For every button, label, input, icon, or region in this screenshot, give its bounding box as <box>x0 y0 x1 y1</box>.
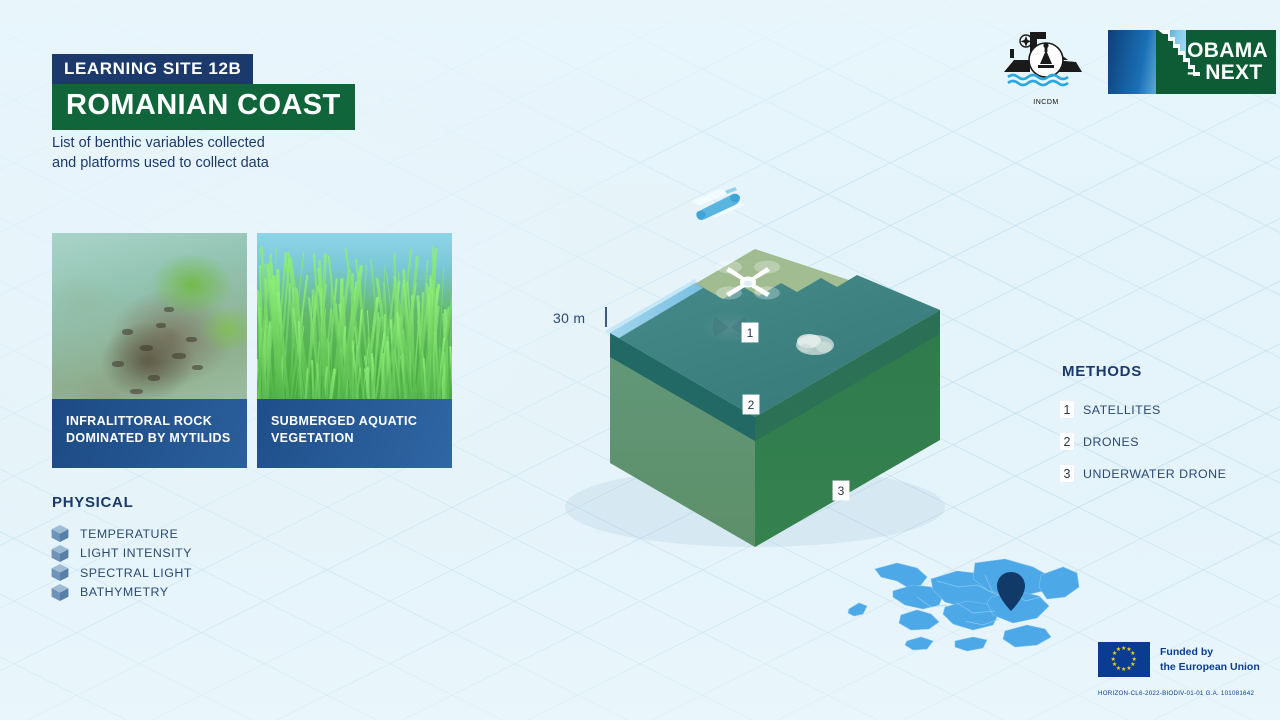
method-label: SATELLITES <box>1083 403 1161 417</box>
incdm-logo-caption: INCDM <box>1000 99 1092 106</box>
physical-variable-label: BATHYMETRY <box>80 585 169 599</box>
incdm-logo: INCDM <box>1000 28 1092 106</box>
physical-variable-label: TEMPERATURE <box>80 527 178 541</box>
method-label: UNDERWATER DRONE <box>1083 467 1226 481</box>
methods-list: 1SATELLITES2DRONES3UNDERWATER DRONE <box>1060 401 1226 497</box>
europe-locator-map <box>845 545 1080 660</box>
methods-list-item[interactable]: 2DRONES <box>1060 433 1226 450</box>
funding-line-2: the European Union <box>1160 660 1260 674</box>
caption-line-2: DOMINATED BY MYTILIDS <box>66 430 235 447</box>
obama-line-1: OBAMA <box>1187 40 1268 62</box>
cube-icon <box>50 544 70 563</box>
europe-map-svg <box>845 545 1080 660</box>
eu-star-icon: ★ <box>1111 657 1116 663</box>
depth-tick-mark <box>605 307 607 327</box>
methods-heading: METHODS <box>1062 363 1142 380</box>
method-number-badge: 1 <box>1060 401 1074 418</box>
subtitle-line-2: and platforms used to collect data <box>52 153 269 173</box>
method-number-badge: 2 <box>1060 433 1074 450</box>
eu-star-icon: ★ <box>1126 666 1131 672</box>
learning-site-tag: LEARNING SITE 12B <box>52 54 253 85</box>
physical-heading: PHYSICAL <box>52 494 133 511</box>
habitat-card-submerged-vegetation[interactable]: SUBMERGED AQUATIC VEGETATION <box>257 233 452 468</box>
eu-flag-icon: ★★★★★★★★★★★★ <box>1098 642 1150 677</box>
airplane-icon <box>691 187 745 220</box>
physical-variable-item: BATHYMETRY <box>50 583 192 603</box>
page-title: ROMANIAN COAST <box>52 84 355 130</box>
page-subtitle: List of benthic variables collected and … <box>52 133 269 173</box>
eu-star-icon: ★ <box>1121 667 1126 673</box>
caption-line-1: SUBMERGED AQUATIC <box>271 413 440 430</box>
physical-variable-item: TEMPERATURE <box>50 524 192 544</box>
physical-variable-list: TEMPERATURELIGHT INTENSITYSPECTRAL LIGHT… <box>50 524 192 602</box>
methods-list-item[interactable]: 1SATELLITES <box>1060 401 1226 418</box>
cube-icon <box>50 524 70 543</box>
scene-marker-1[interactable]: 1 <box>742 323 758 342</box>
method-label: DRONES <box>1083 435 1139 449</box>
habitat-card-infralittoral-rock[interactable]: INFRALITTORAL ROCK DOMINATED BY MYTILIDS <box>52 233 247 468</box>
methods-list-item[interactable]: 3UNDERWATER DRONE <box>1060 465 1226 482</box>
caption-line-1: INFRALITTORAL ROCK <box>66 413 235 430</box>
eu-star-icon: ★ <box>1112 662 1117 668</box>
physical-variable-label: LIGHT INTENSITY <box>80 546 192 560</box>
habitat-card-caption: INFRALITTORAL ROCK DOMINATED BY MYTILIDS <box>52 399 247 468</box>
eu-star-icon: ★ <box>1116 647 1121 653</box>
scene-marker-2[interactable]: 2 <box>743 395 759 414</box>
obama-next-logo: OBAMA – NEXT <box>1108 30 1276 94</box>
physical-variable-item: SPECTRAL LIGHT <box>50 563 192 583</box>
method-number-badge: 3 <box>1060 465 1074 482</box>
eu-funding-text: Funded by the European Union <box>1160 645 1260 673</box>
physical-variable-item: LIGHT INTENSITY <box>50 544 192 564</box>
scene-marker-3[interactable]: 3 <box>833 481 849 500</box>
physical-variable-label: SPECTRAL LIGHT <box>80 566 192 580</box>
habitat-card-caption: SUBMERGED AQUATIC VEGETATION <box>257 399 452 468</box>
funding-line-1: Funded by <box>1160 645 1260 659</box>
obama-next-wordmark: OBAMA – NEXT <box>1187 40 1268 84</box>
incdm-ship-icon <box>1000 28 1092 98</box>
caption-line-2: VEGETATION <box>271 430 440 447</box>
eu-funding-block: ★★★★★★★★★★★★ Funded by the European Unio… <box>1098 642 1260 677</box>
coastal-block-svg <box>545 155 995 555</box>
isometric-coastal-block-diagram: 30 m 1 2 3 <box>545 155 995 555</box>
depth-label: 30 m <box>553 310 585 326</box>
obama-line-2: – NEXT <box>1187 62 1268 84</box>
grant-agreement-number: HORIZON-CL6-2022-BIODIV-01-01 G.A. 10108… <box>1098 690 1254 697</box>
cube-icon <box>50 583 70 602</box>
cube-icon <box>50 563 70 582</box>
subtitle-line-1: List of benthic variables collected <box>52 133 269 153</box>
